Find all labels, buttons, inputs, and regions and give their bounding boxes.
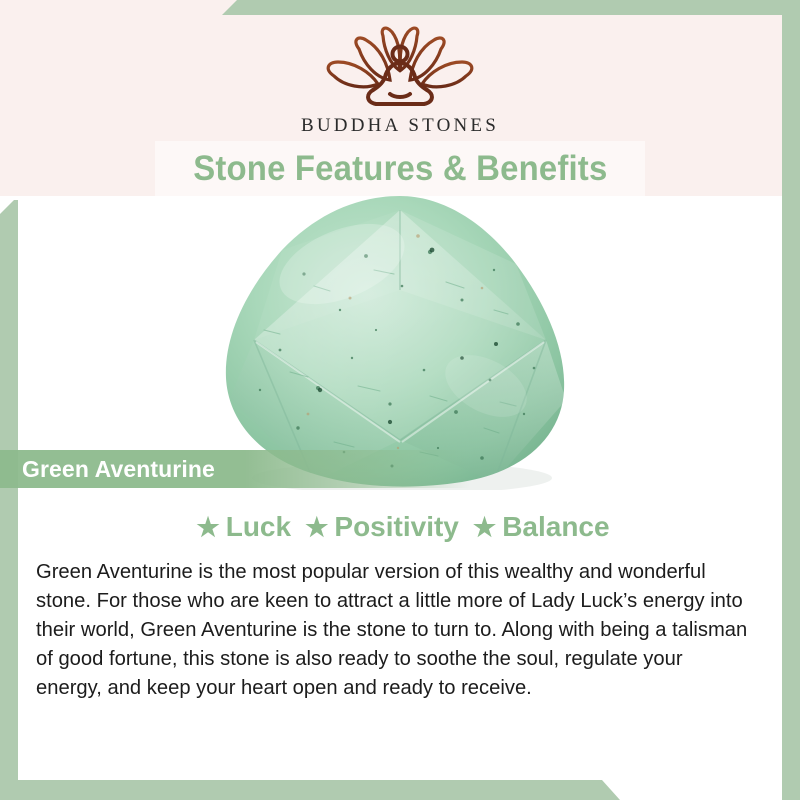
star-icon-positivity: ★ (305, 512, 328, 542)
keyword-positivity: Positivity (334, 511, 458, 542)
stone-photo (18, 196, 782, 492)
keyword-luck: Luck (226, 511, 291, 542)
stone-keywords: ★Luck★Positivity★Balance (18, 511, 782, 543)
brand-name: BUDDHA STONES (0, 115, 800, 137)
poster-root: BUDDHA STONES Stone Features & Benefits (0, 0, 800, 800)
stone-name: Green Aventurine (22, 456, 215, 483)
star-icon-luck: ★ (196, 512, 219, 542)
frame-left-accent-bar (0, 200, 18, 800)
stone-description-section: ★Luck★Positivity★Balance Green Aventurin… (18, 492, 782, 780)
keyword-balance: Balance (502, 511, 609, 542)
green-aventurine-stone-image (194, 196, 614, 490)
page-title-plate: Stone Features & Benefits (155, 141, 645, 196)
stone-description-text: Green Aventurine is the most popular ver… (36, 557, 753, 703)
lotus-meditation-figure-icon (314, 24, 486, 110)
frame-top-right-accent-bar (222, 0, 800, 15)
brand-logo: BUDDHA STONES (0, 24, 800, 137)
page-title: Stone Features & Benefits (193, 149, 607, 189)
frame-bottom-accent-bar (0, 780, 620, 800)
star-icon-balance: ★ (473, 512, 496, 542)
stone-name-banner: Green Aventurine (0, 450, 470, 488)
frame-right-accent-bar-header (782, 0, 800, 196)
